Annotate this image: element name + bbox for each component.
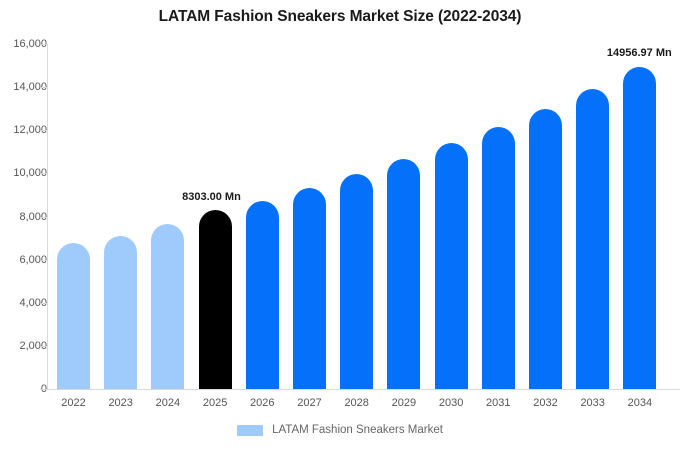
chart-container: LATAM Fashion Sneakers Market Size (2022… xyxy=(0,0,680,450)
bar-2034[interactable] xyxy=(623,67,656,390)
bar-2026[interactable] xyxy=(246,201,279,389)
bar-2031[interactable] xyxy=(482,127,515,389)
bar-2023[interactable] xyxy=(104,236,137,389)
bar-2028[interactable] xyxy=(340,174,373,389)
bar-2024[interactable] xyxy=(151,224,184,389)
bar-2022[interactable] xyxy=(57,243,90,389)
bar-2029[interactable] xyxy=(387,159,420,389)
bar-2025[interactable] xyxy=(199,210,232,389)
bar-2033[interactable] xyxy=(576,89,609,389)
data-label-2025: 8303.00 Mn xyxy=(182,191,241,203)
data-label-2034: 14956.97 Mn xyxy=(607,47,672,59)
legend-swatch-icon xyxy=(237,425,263,436)
bars-layer: 2022202320242025202620272028202920302031… xyxy=(0,0,680,450)
bar-2027[interactable] xyxy=(293,188,326,389)
bar-2030[interactable] xyxy=(435,143,468,389)
x-axis-tick-label: 2034 xyxy=(610,397,670,409)
legend-label: LATAM Fashion Sneakers Market xyxy=(272,424,443,436)
bar-2032[interactable] xyxy=(529,109,562,389)
chart-legend: LATAM Fashion Sneakers Market xyxy=(0,424,680,436)
